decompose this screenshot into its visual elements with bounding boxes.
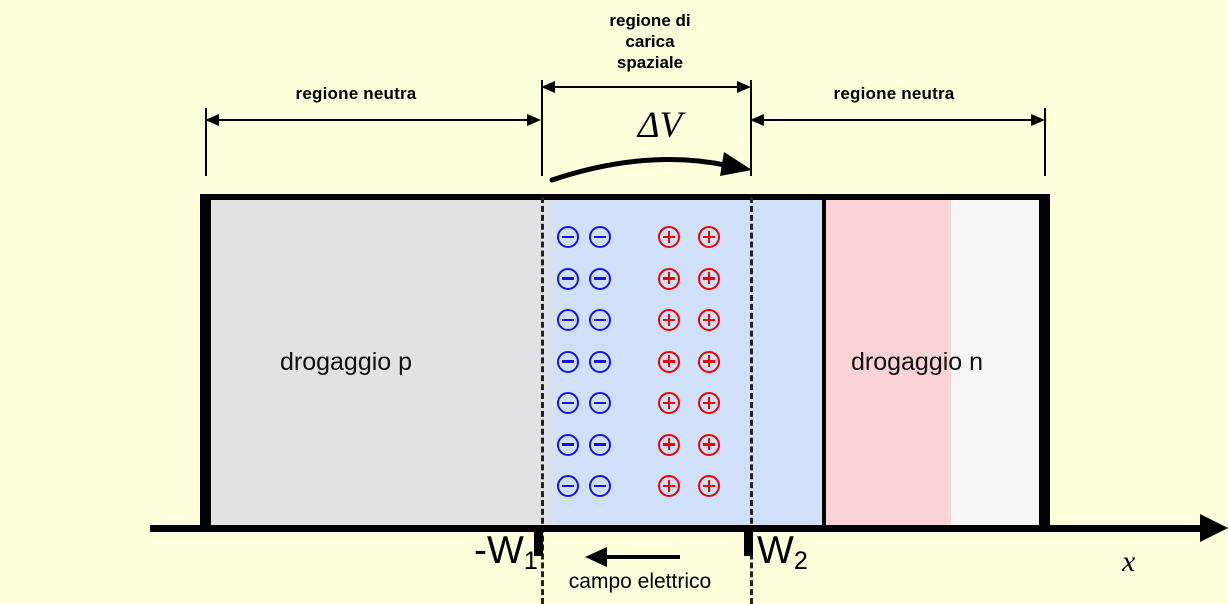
negative-ion-icon bbox=[589, 434, 611, 456]
negative-ion-icon bbox=[589, 351, 611, 373]
charge-bar-horizontal bbox=[594, 236, 606, 239]
charge-bar-vertical bbox=[708, 438, 711, 450]
dim-arrow-neutral-right bbox=[750, 114, 1045, 127]
metallurgical-junction-line bbox=[822, 194, 826, 528]
negative-ion-icon bbox=[557, 475, 579, 497]
negative-ion-icon bbox=[557, 226, 579, 248]
charge-bar-vertical bbox=[708, 314, 711, 326]
charge-bar-horizontal bbox=[562, 236, 574, 239]
delta-v-curved-arrow bbox=[548, 142, 758, 186]
negative-ion-icon bbox=[557, 392, 579, 414]
positive-ion-icon bbox=[658, 434, 680, 456]
charge-bar-horizontal bbox=[562, 485, 574, 488]
space-charge-line-1: regione di bbox=[560, 10, 740, 31]
label-w2-sub: 2 bbox=[794, 547, 808, 575]
charge-bar-vertical bbox=[668, 355, 671, 367]
charge-bar-vertical bbox=[668, 480, 671, 492]
charge-bar-vertical bbox=[668, 231, 671, 243]
charge-bar-horizontal bbox=[562, 402, 574, 405]
positive-ion-icon bbox=[658, 309, 680, 331]
x-axis-label: x bbox=[1122, 545, 1135, 579]
negative-ion-icon bbox=[557, 351, 579, 373]
electric-field-arrowhead bbox=[585, 547, 607, 567]
dim-tick-depletion-left bbox=[541, 80, 543, 176]
charge-bar-horizontal bbox=[562, 443, 574, 446]
label-minus-w1-sub: 1 bbox=[524, 547, 538, 575]
charge-bar-vertical bbox=[708, 272, 711, 284]
negative-ion-icon bbox=[557, 309, 579, 331]
positive-ion-icon bbox=[658, 351, 680, 373]
space-charge-line-2: carica bbox=[560, 31, 740, 52]
dim-arrow-space-charge bbox=[541, 81, 751, 94]
charge-bar-vertical bbox=[668, 397, 671, 409]
delta-v-label: ΔV bbox=[638, 104, 682, 147]
space-charge-region-label: regione di carica spaziale bbox=[560, 10, 740, 73]
positive-ion-icon bbox=[698, 351, 720, 373]
negative-ion-icon bbox=[589, 309, 611, 331]
charge-bar-horizontal bbox=[562, 277, 574, 280]
positive-ion-icon bbox=[658, 475, 680, 497]
positive-ion-icon bbox=[658, 392, 680, 414]
positive-ion-icon bbox=[698, 309, 720, 331]
negative-ion-icon bbox=[557, 434, 579, 456]
doping-p-label: drogaggio p bbox=[280, 348, 412, 377]
positive-ion-icon bbox=[698, 434, 720, 456]
neutral-region-left-label: regione neutra bbox=[296, 84, 417, 104]
charge-bar-horizontal bbox=[594, 360, 606, 363]
charge-bar-horizontal bbox=[562, 319, 574, 322]
positive-ion-icon bbox=[698, 226, 720, 248]
charge-bar-horizontal bbox=[594, 319, 606, 322]
label-w2: W2 bbox=[757, 529, 808, 576]
doping-n-label: drogaggio n bbox=[851, 348, 983, 377]
negative-ion-icon bbox=[589, 475, 611, 497]
label-minus-w1-main: -W bbox=[474, 529, 524, 572]
charge-bar-vertical bbox=[668, 438, 671, 450]
positive-ion-icon bbox=[698, 392, 720, 414]
label-minus-w1: -W1 bbox=[474, 529, 538, 576]
charge-bar-horizontal bbox=[594, 402, 606, 405]
negative-ion-icon bbox=[589, 268, 611, 290]
negative-ion-icon bbox=[557, 268, 579, 290]
diagram-canvas: regione di carica spaziale regione neutr… bbox=[0, 0, 1228, 604]
label-w2-main: W bbox=[757, 529, 794, 572]
charge-bar-vertical bbox=[708, 397, 711, 409]
device-right-border bbox=[1039, 194, 1050, 528]
charge-bar-horizontal bbox=[594, 277, 606, 280]
charge-bar-horizontal bbox=[562, 360, 574, 363]
x-axis-arrowhead bbox=[1200, 514, 1228, 542]
dim-arrow-neutral-left bbox=[205, 114, 541, 127]
charge-bar-horizontal bbox=[594, 443, 606, 446]
charge-bar-vertical bbox=[708, 480, 711, 492]
charge-bar-vertical bbox=[708, 355, 711, 367]
electric-field-label: campo elettrico bbox=[569, 570, 711, 594]
charge-bar-vertical bbox=[708, 231, 711, 243]
positive-ion-icon bbox=[698, 268, 720, 290]
charge-bar-vertical bbox=[668, 314, 671, 326]
negative-ion-icon bbox=[589, 392, 611, 414]
negative-ion-icon bbox=[589, 226, 611, 248]
axis-tick-w2 bbox=[744, 530, 753, 556]
charge-bar-vertical bbox=[668, 272, 671, 284]
region-depletion-p bbox=[542, 200, 824, 528]
device-left-border bbox=[200, 194, 211, 528]
positive-ion-icon bbox=[698, 475, 720, 497]
electric-field-arrow-line bbox=[600, 555, 680, 559]
x-axis-line bbox=[150, 525, 1210, 532]
space-charge-line-3: spaziale bbox=[560, 52, 740, 73]
charge-bar-horizontal bbox=[594, 485, 606, 488]
positive-ion-icon bbox=[658, 268, 680, 290]
positive-ion-icon bbox=[658, 226, 680, 248]
neutral-region-right-label: regione neutra bbox=[834, 84, 955, 104]
